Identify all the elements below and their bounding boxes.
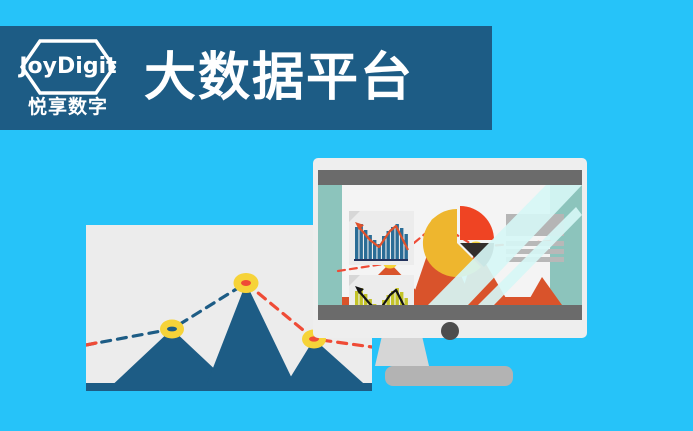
- logo-subtitle: 悦享数字: [28, 98, 108, 117]
- header-banner: JoyDigit 悦享数字 大数据平台: [0, 26, 492, 130]
- illustration-canvas: JoyDigit 悦享数字 大数据平台: [0, 0, 693, 431]
- desktop-monitor: [313, 158, 587, 338]
- screen-glare-overlay: [318, 185, 582, 305]
- data-point-marker-1: [160, 320, 184, 339]
- brand-logo: JoyDigit 悦享数字: [14, 35, 122, 121]
- mountain-shape-tall-center: [204, 283, 298, 391]
- monitor-bezel-top: [318, 170, 582, 185]
- monitor-screen: [318, 185, 582, 305]
- page-title: 大数据平台: [144, 52, 414, 104]
- monitor-stand-neck: [375, 338, 429, 366]
- monitor-bezel-bottom: [318, 305, 582, 320]
- trend-line-red-tail: [86, 343, 96, 345]
- data-point-marker-2: [234, 273, 259, 293]
- logo-hexagon-icon: JoyDigit: [20, 39, 116, 95]
- monitor-stand-base: [385, 366, 513, 386]
- logo-wordmark: JoyDigit: [19, 56, 116, 78]
- mountain-baseline: [86, 383, 372, 391]
- monitor-power-button[interactable]: [441, 322, 459, 340]
